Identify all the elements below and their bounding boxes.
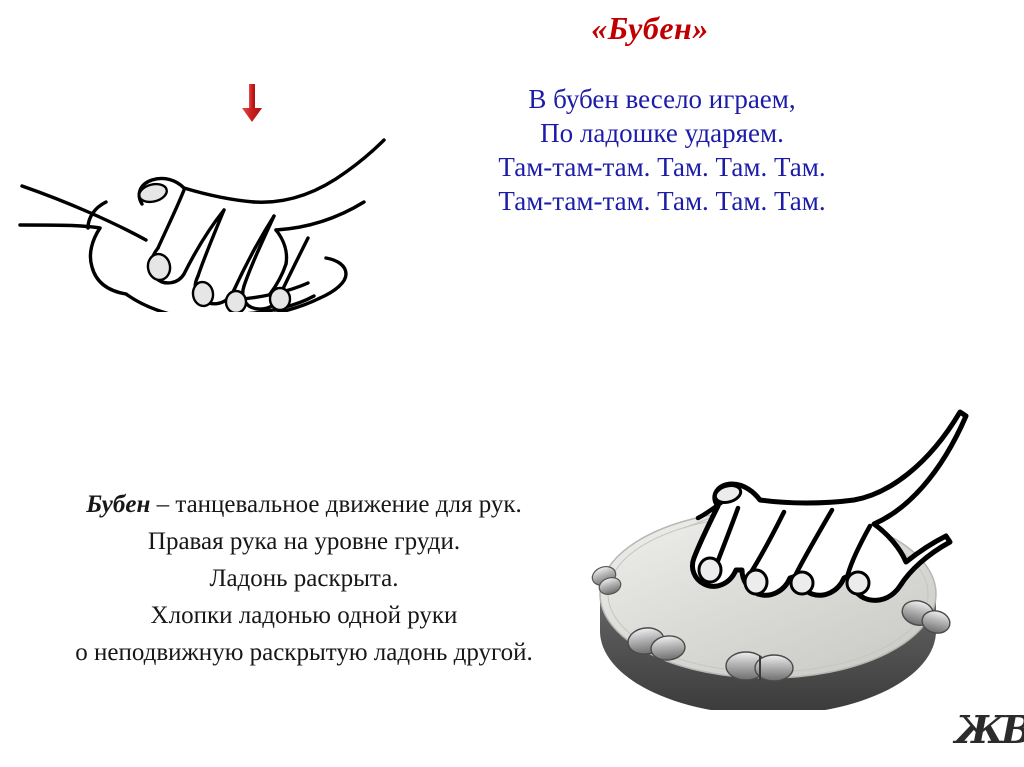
watermark-monogram: ЖВ [955, 707, 1011, 755]
description-term: Бубен [86, 491, 150, 518]
poem-line-1: В бубен весело играем, [412, 82, 912, 116]
poem-block: В бубен весело играем, По ладошке ударяе… [412, 82, 912, 218]
description-line-5: о неподвижную раскрытую ладонь другой. [0, 634, 608, 671]
description-block: Бубен – танцевальное движение для рук. П… [0, 486, 608, 671]
nail-index [699, 558, 721, 582]
description-line-1: Бубен – танцевальное движение для рук. [0, 486, 608, 523]
nail-ring [226, 291, 246, 312]
description-line-4: Хлопки ладонью одной руки [0, 597, 608, 634]
poem-line-4: Там-там-там. Там. Там. Там. [412, 184, 912, 218]
nail-index [146, 252, 172, 281]
tambourine-illustration [588, 398, 988, 710]
nail-middle [191, 281, 214, 308]
tambourine-icon [588, 398, 988, 710]
description-line-1-rest: – танцевальное движение для рук. [150, 491, 521, 518]
nail-little [270, 288, 290, 310]
nail-middle [745, 570, 767, 594]
down-arrow-icon [235, 82, 269, 124]
clapping-hands-icon [8, 62, 388, 312]
slide-canvas: «Бубен» В бубен весело играем, По ладошк… [0, 0, 1024, 767]
nail-ring [791, 572, 813, 594]
poem-line-3: Там-там-там. Там. Там. Там. [412, 150, 912, 184]
description-line-3: Ладонь раскрыта. [0, 560, 608, 597]
clapping-hands-illustration [8, 62, 388, 312]
description-line-2: Правая рука на уровне груди. [0, 523, 608, 560]
nail-little [847, 572, 869, 594]
poem-line-2: По ладошке ударяем. [412, 116, 912, 150]
page-title: «Бубен» [430, 8, 870, 48]
